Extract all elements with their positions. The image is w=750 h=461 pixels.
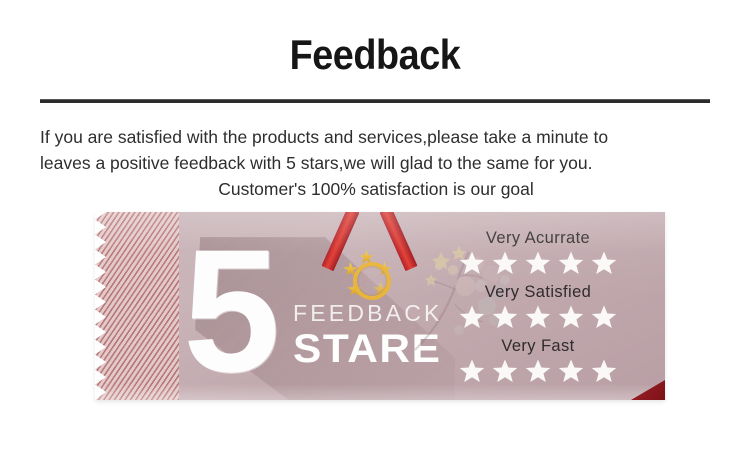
intro-line-3: Customer's 100% satisfaction is our goal: [40, 176, 712, 202]
rating-row: Very Acurrate: [429, 226, 647, 276]
star-icon: [558, 305, 584, 330]
star-icon: [591, 359, 617, 384]
star-icon: [558, 251, 584, 276]
title-divider: [40, 99, 710, 103]
rating-digit: 5: [183, 224, 276, 399]
star-icon: [525, 251, 551, 276]
star-icon: [591, 251, 617, 276]
page-title: Feedback: [38, 30, 713, 80]
star-icon: [492, 359, 518, 384]
star-icon: [459, 359, 485, 384]
star-icon: [492, 251, 518, 276]
rating-label: Very Acurrate: [429, 226, 647, 250]
rating-row: Very Satisfied: [429, 280, 647, 330]
intro-line-1: If you are satisfied with the products a…: [40, 124, 712, 150]
star-icon: [525, 359, 551, 384]
rating-label: Very Satisfied: [429, 280, 647, 304]
intro-line-2: leaves a positive feedback with 5 stars,…: [40, 150, 712, 176]
rating-row: Very Fast: [429, 334, 647, 384]
striped-ticket-panel: [95, 212, 179, 400]
star-rating-row: [429, 251, 647, 276]
star-rating-row: [429, 305, 647, 330]
rating-label: Very Fast: [429, 334, 647, 358]
feedback-banner: 5 FEEDBACK STARE: [95, 212, 665, 400]
star-icon: [459, 251, 485, 276]
medal-disc-icon: [353, 262, 391, 300]
star-icon: [525, 305, 551, 330]
star-icon: [591, 305, 617, 330]
star-icon: [492, 305, 518, 330]
ribbon-icon-left: [322, 212, 360, 271]
ratings-list: Very Acurrate Very Satisfied Very Fast: [429, 226, 647, 388]
intro-paragraph: If you are satisfied with the products a…: [40, 124, 712, 202]
star-rating-row: [429, 359, 647, 384]
star-icon: [459, 305, 485, 330]
star-icon: [558, 359, 584, 384]
